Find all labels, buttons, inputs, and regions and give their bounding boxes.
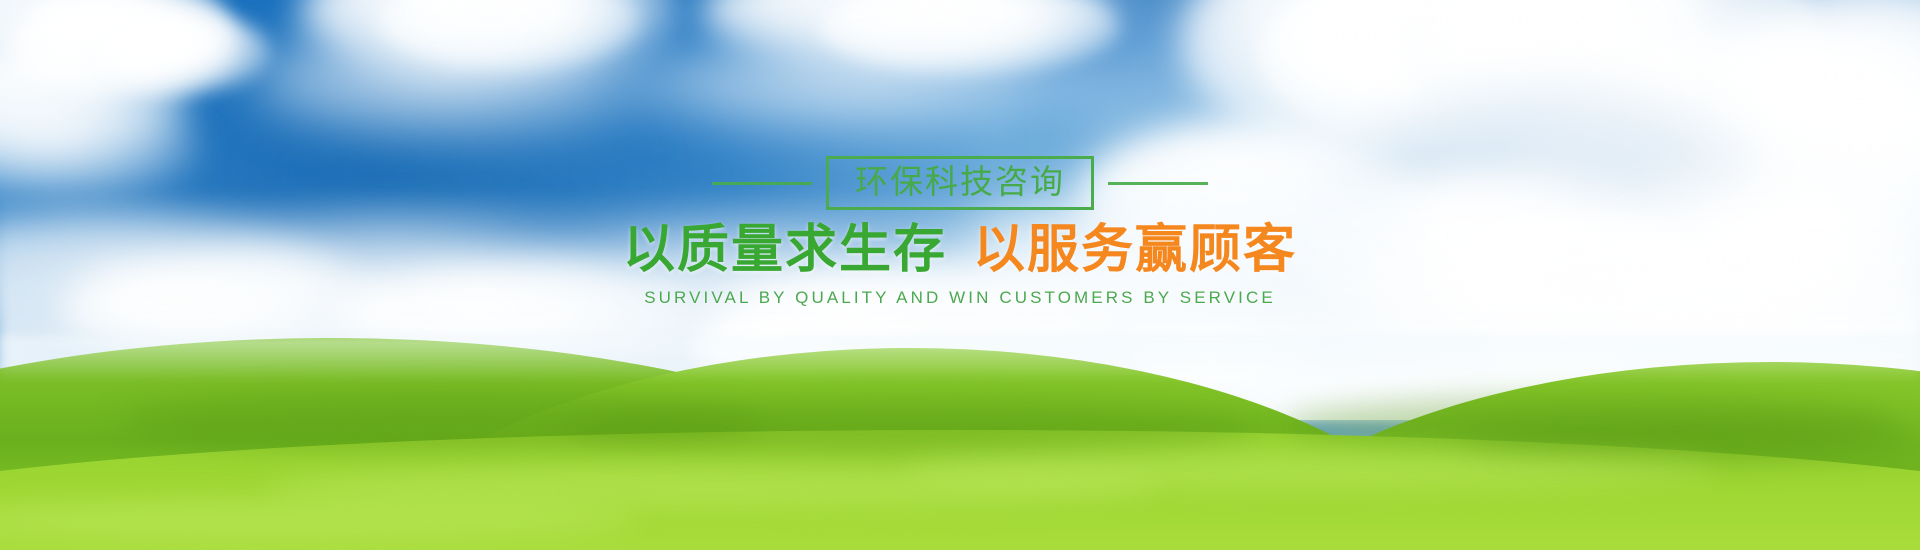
banner-content: 环保科技咨询 以质量求生存以服务赢顾客 SURVIVAL BY QUALITY …: [0, 0, 1920, 550]
rule-left-icon: [712, 182, 812, 185]
hero-banner: 环保科技咨询 以质量求生存以服务赢顾客 SURVIVAL BY QUALITY …: [0, 0, 1920, 550]
subheadline: SURVIVAL BY QUALITY AND WIN CUSTOMERS BY…: [644, 288, 1276, 308]
headline: 以质量求生存以服务赢顾客: [623, 224, 1297, 276]
headline-green-text: 以质量求生存: [623, 220, 947, 280]
eyebrow-box: 环保科技咨询: [826, 156, 1094, 210]
headline-orange-text: 以服务赢顾客: [973, 220, 1297, 280]
eyebrow-label: 环保科技咨询: [855, 165, 1065, 198]
eyebrow-row: 环保科技咨询: [712, 156, 1208, 210]
rule-right-icon: [1108, 182, 1208, 185]
